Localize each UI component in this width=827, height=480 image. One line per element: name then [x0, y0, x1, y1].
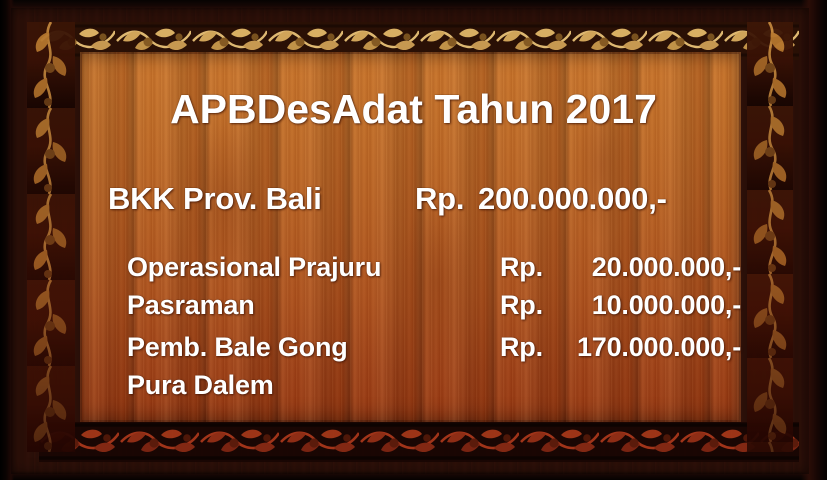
item-amount: 170.000.000,-	[577, 332, 741, 363]
item-amount: 10.000.000,-	[592, 290, 741, 321]
item-label-continuation: Pura Dalem	[127, 370, 274, 401]
wooden-signboard: APBDesAdat Tahun 2017 BKK Prov. Bali Rp.…	[0, 0, 827, 480]
board-title: APBDesAdat Tahun 2017	[0, 86, 827, 133]
item-label: Operasional Prajuru	[127, 252, 381, 283]
item-label: Pasraman	[127, 290, 254, 321]
item-amount: 20.000.000,-	[592, 252, 741, 283]
header-amount: 200.000.000,-	[478, 181, 667, 217]
header-currency: Rp.	[415, 181, 464, 217]
item-currency: Rp.	[500, 252, 543, 283]
item-currency: Rp.	[500, 290, 543, 321]
item-currency: Rp.	[500, 332, 543, 363]
header-label: BKK Prov. Bali	[108, 181, 322, 217]
board-text-content: APBDesAdat Tahun 2017 BKK Prov. Bali Rp.…	[0, 0, 827, 480]
item-label: Pemb. Bale Gong	[127, 332, 348, 363]
